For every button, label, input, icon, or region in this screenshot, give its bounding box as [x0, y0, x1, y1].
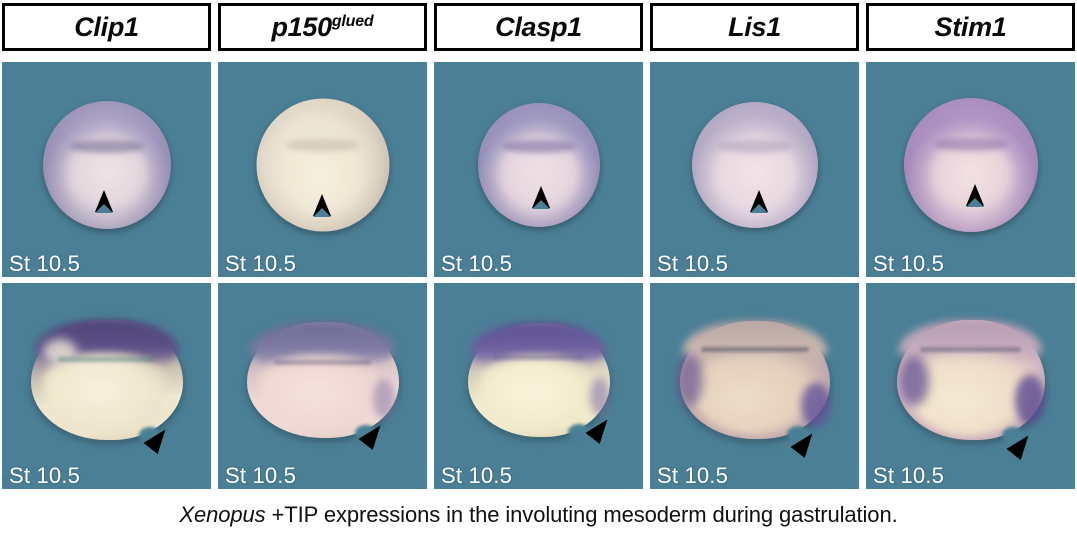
gene-label: p150glued: [271, 12, 373, 43]
stage-label: St 10.5: [9, 253, 80, 275]
micrograph-panel-p150glued-vegetal: St 10.5: [218, 62, 427, 277]
figure-panel: Clip1 p150glued Clasp1 Lis1 Stim1 St 10.…: [0, 0, 1077, 536]
arrowhead-icon: [532, 186, 550, 208]
arrowhead-icon: [750, 190, 768, 212]
figure-caption: Xenopus +TIP expressions in the involuti…: [0, 502, 1077, 528]
micrograph-panel-stim1-lateral: St 10.5: [866, 283, 1075, 489]
gene-header-p150glued: p150glued: [218, 3, 427, 51]
caption-text: +TIP expressions in the involuting mesod…: [266, 502, 898, 527]
caption-species-name: Xenopus: [179, 502, 265, 527]
micrograph-panel-stim1-vegetal: St 10.5: [866, 62, 1075, 277]
gene-header-stim1: Stim1: [866, 3, 1075, 51]
gene-label: Clip1: [74, 12, 139, 43]
arrowhead-icon: [313, 194, 331, 216]
gene-label-superscript: glued: [332, 13, 374, 30]
stage-label: St 10.5: [873, 465, 944, 487]
micrograph-panel-clip1-lateral: St 10.5: [2, 283, 211, 489]
arrowhead-icon: [95, 190, 113, 212]
embryo-image: [468, 323, 610, 437]
gene-header-lis1: Lis1: [650, 3, 859, 51]
micrograph-panel-lis1-vegetal: St 10.5: [650, 62, 859, 277]
gene-label: Clasp1: [495, 12, 582, 43]
embryo-image: [31, 320, 183, 440]
micrograph-row-lateral: St 10.5 St 10.5 St 10.5: [0, 283, 1077, 489]
stage-label: St 10.5: [9, 465, 80, 487]
stage-label: St 10.5: [441, 465, 512, 487]
stage-label: St 10.5: [225, 465, 296, 487]
stage-label: St 10.5: [657, 253, 728, 275]
gene-header-clasp1: Clasp1: [434, 3, 643, 51]
gene-header-row: Clip1 p150glued Clasp1 Lis1 Stim1: [0, 0, 1077, 57]
micrograph-panel-clip1-vegetal: St 10.5: [2, 62, 211, 277]
embryo-image: [897, 320, 1045, 440]
embryo-image: [247, 322, 399, 438]
stage-label: St 10.5: [441, 253, 512, 275]
embryo-image: [680, 321, 830, 439]
stage-label: St 10.5: [873, 253, 944, 275]
gene-header-clip1: Clip1: [2, 3, 211, 51]
arrowhead-icon: [966, 184, 984, 206]
gene-label: Stim1: [934, 12, 1006, 43]
micrograph-panel-clasp1-vegetal: St 10.5: [434, 62, 643, 277]
micrograph-row-vegetal: St 10.5 St 10.5 St 10.5: [0, 62, 1077, 277]
stage-label: St 10.5: [225, 253, 296, 275]
micrograph-panel-lis1-lateral: St 10.5: [650, 283, 859, 489]
gene-label: Lis1: [728, 12, 781, 43]
micrograph-panel-p150glued-lateral: St 10.5: [218, 283, 427, 489]
stage-label: St 10.5: [657, 465, 728, 487]
micrograph-panel-clasp1-lateral: St 10.5: [434, 283, 643, 489]
embryo-image: [904, 98, 1038, 232]
